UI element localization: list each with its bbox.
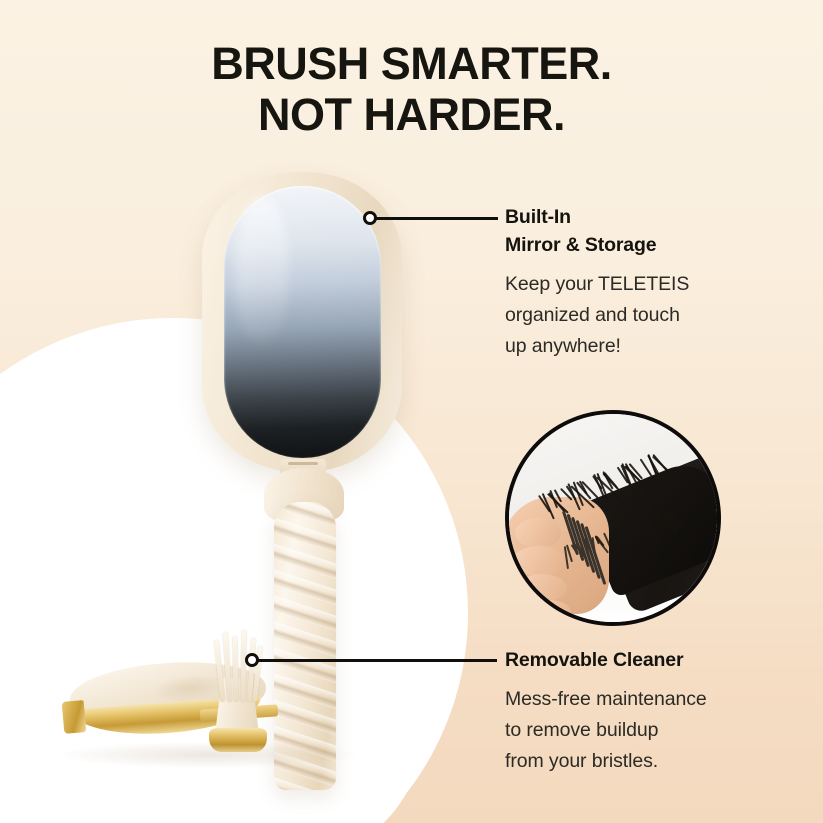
knuckle (515, 518, 561, 548)
feature-body-line-1: Mess-free maintenance (505, 684, 773, 715)
feature-body-line-1: Keep your TELETEIS (505, 269, 773, 300)
feature-body-line-3: up anywhere! (505, 331, 773, 362)
page-title: BRUSH SMARTER. NOT HARDER. (0, 38, 823, 140)
feature-body-line-2: to remove buildup (505, 715, 773, 746)
cleaner-callout-dot (245, 653, 259, 667)
mirror-sheen (236, 196, 288, 346)
feature-body: Mess-free maintenance to remove buildup … (505, 684, 773, 777)
knuckle (527, 600, 571, 624)
feature-title-line-2: Mirror & Storage (505, 234, 656, 256)
photo-content (509, 414, 717, 622)
feature-built-in-mirror-storage: Built-In Mirror & Storage Keep your TELE… (505, 203, 773, 362)
mirror-callout-dot (363, 211, 377, 225)
feature-body: Keep your TELETEIS organized and touch u… (505, 269, 773, 362)
cleaner-prong (232, 636, 238, 702)
removable-cleaner-tool (203, 614, 269, 760)
cover-gold-clip (62, 700, 87, 734)
cleaner-in-use-photo (505, 410, 721, 626)
knuckle (513, 546, 565, 576)
feature-body-line-2: organized and touch (505, 300, 773, 331)
cleaner-callout-line (256, 659, 497, 662)
headline-line-2: NOT HARDER. (0, 89, 823, 140)
feature-title-line-1: Built-In (505, 206, 571, 228)
feature-body-line-3: from your bristles. (505, 746, 773, 777)
feature-removable-cleaner: Removable Cleaner Mess-free maintenance … (505, 646, 773, 777)
feature-title: Removable Cleaner (505, 646, 773, 674)
feature-title-line-1: Removable Cleaner (505, 649, 683, 671)
headline-line-1: BRUSH SMARTER. (0, 38, 823, 89)
mirror-callout-line (375, 217, 498, 220)
product-shadow (58, 742, 358, 768)
feature-title: Built-In Mirror & Storage (505, 203, 773, 259)
knuckle (517, 574, 567, 602)
storage-latch-slit (288, 462, 318, 465)
infographic-canvas: BRUSH SMARTER. NOT HARDER. Built-In Mir (0, 0, 823, 823)
